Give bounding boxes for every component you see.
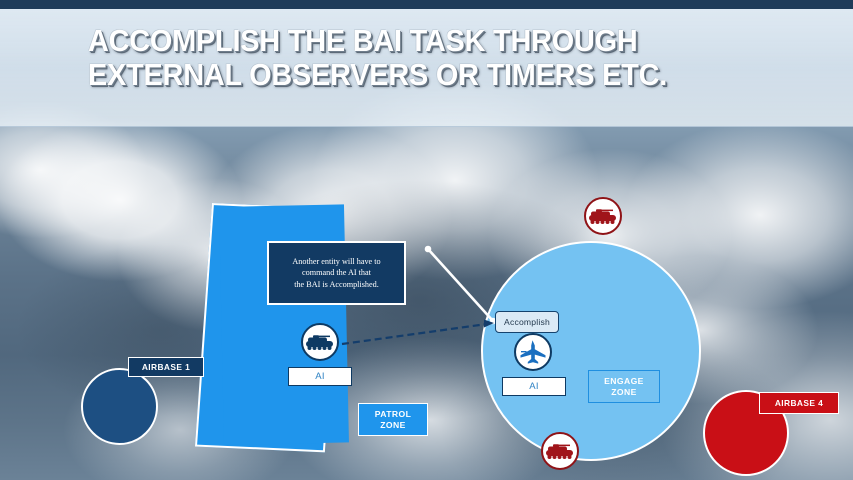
engage-zone-label[interactable]: ENGAGE ZONE [588,370,660,403]
tank-icon[interactable] [301,323,339,361]
page-title: ACCOMPLISH THE BAI TASK THROUGH EXTERNAL… [88,24,739,92]
accomplish-node[interactable]: Accomplish [495,311,559,333]
tank-icon-glyph [305,333,335,351]
jet-fighter-icon[interactable] [514,333,552,371]
airbase-1-label[interactable]: AIRBASE 1 [128,357,204,377]
engage-ai-label: AI [502,377,566,396]
jet-fighter-icon-glyph [518,339,548,365]
airbase-4-label[interactable]: AIRBASE 4 [759,392,839,414]
hostile-tank-south-icon[interactable] [541,432,579,470]
patrol-ai-label: AI [288,367,352,386]
callout-text: Another entity will have to command the … [292,256,380,291]
airbase-1-marker[interactable] [81,368,158,445]
hostile-tank-north-icon[interactable] [584,197,622,235]
slide-canvas: ACCOMPLISH THE BAI TASK THROUGH EXTERNAL… [0,0,853,480]
callout-box: Another entity will have to command the … [267,241,406,305]
tank-icon-glyph [588,207,618,225]
patrol-zone-label[interactable]: PATROL ZONE [358,403,428,436]
top-accent-strip [0,0,853,9]
tank-icon-glyph [545,442,575,460]
